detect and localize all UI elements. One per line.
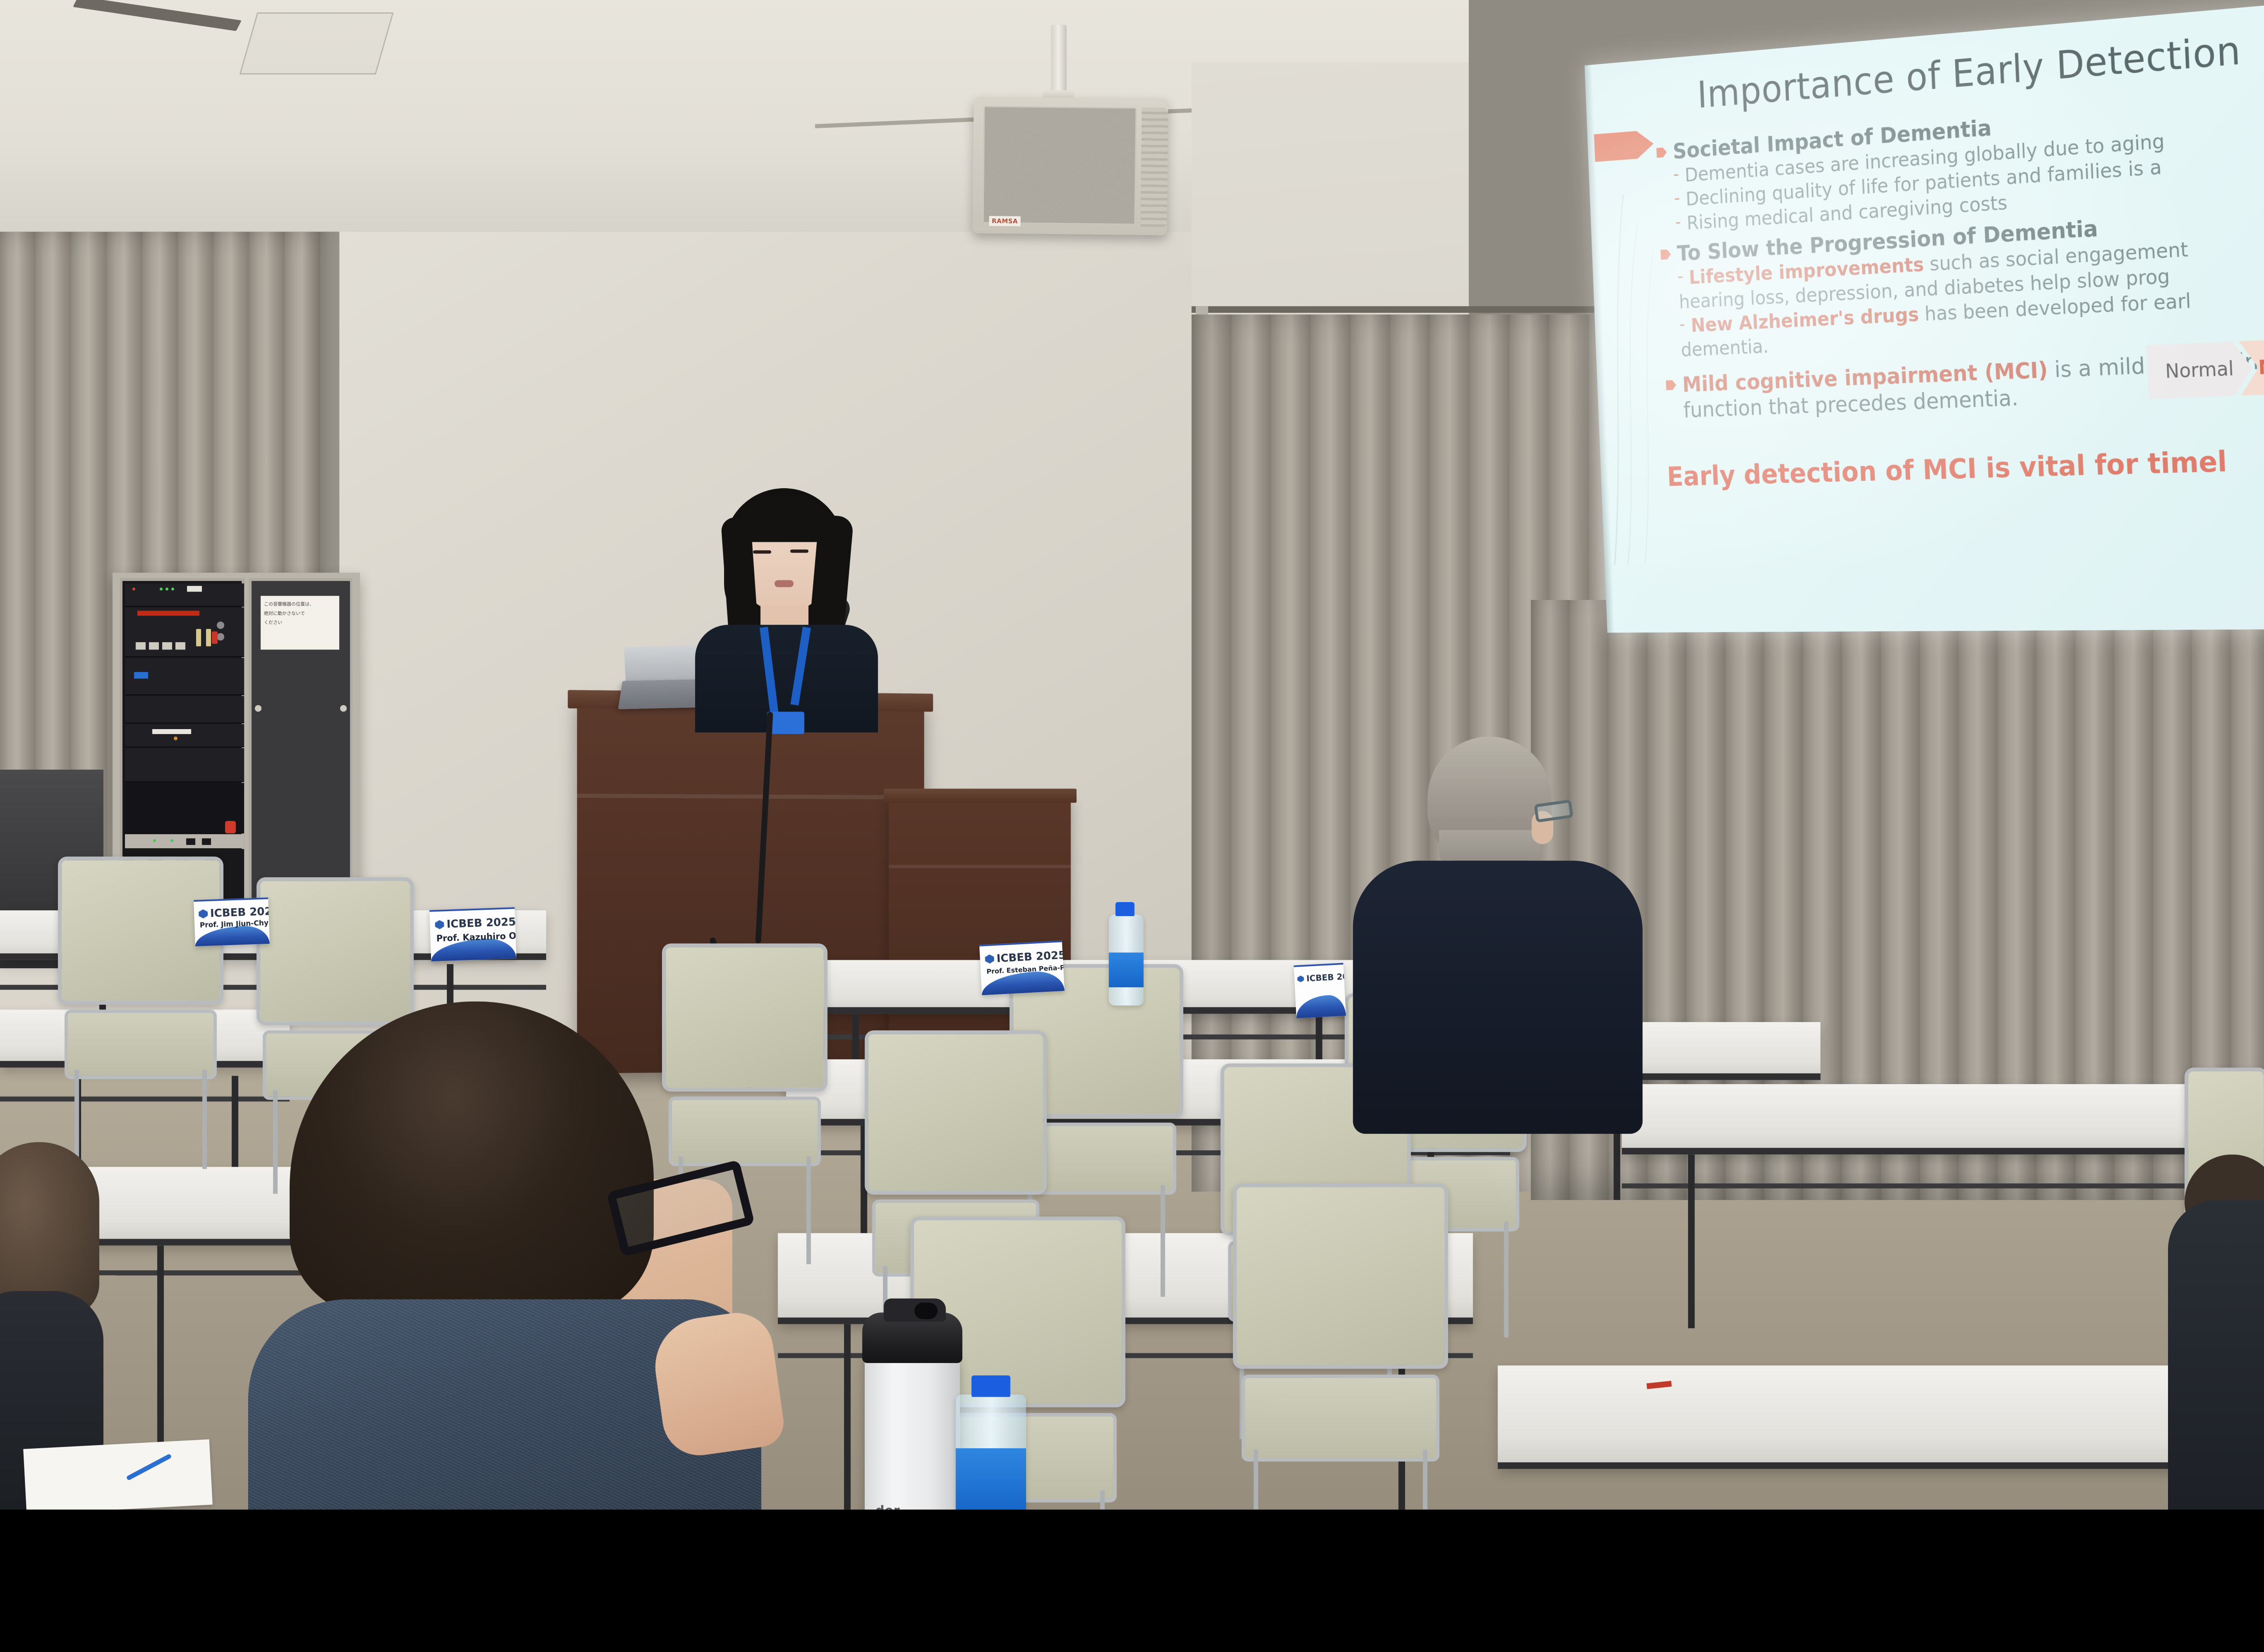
progression-chevron-figure: Normal MC	[2158, 338, 2264, 399]
table-row4-right	[1498, 1365, 2264, 1469]
chair-back	[865, 1030, 1047, 1195]
ceiling-light-slot	[73, 0, 241, 31]
table-row2-far-right	[1622, 1084, 2264, 1154]
placard-event-text: ICBEB 2025	[210, 905, 270, 920]
chair-leg	[202, 1070, 207, 1169]
patch-led-icon	[153, 839, 156, 842]
status-led-icon	[160, 588, 163, 591]
chair-leg	[1161, 1185, 1165, 1297]
projection-screen: Importance of Early Detection Societal I…	[1584, 5, 2264, 633]
chair-seat	[65, 1009, 217, 1079]
shaker-drink-hole	[914, 1302, 937, 1319]
rack-door-latch[interactable]	[255, 705, 262, 712]
speaker-grille	[983, 106, 1137, 225]
rack-label	[187, 586, 202, 592]
rack-unit-dvd-player[interactable]	[125, 748, 244, 782]
presenter-eye	[753, 550, 771, 553]
podium-side-trim	[889, 865, 1071, 868]
presenter-mouth	[775, 580, 794, 587]
paper-sheet[interactable]	[23, 1439, 212, 1509]
table-leg	[1688, 1154, 1695, 1328]
rack-warning-sign: この音響機器の位置は、 絶対に動かさないで ください	[261, 596, 340, 650]
chair-leg	[1423, 1450, 1427, 1510]
conference-room-scene: Importance of Early Detection Societal I…	[0, 0, 2264, 1509]
rack-door[interactable]: この音響機器の位置は、 絶対に動かさないで ください	[249, 578, 352, 909]
mixer-knob[interactable]	[217, 633, 224, 640]
rca-jack-red[interactable]	[225, 821, 236, 833]
transport-led-icon	[174, 736, 177, 740]
rack-unit-blank-panel	[125, 696, 244, 723]
slide-tagline: Early detection of MCI is vital for time…	[1666, 445, 2227, 493]
name-placard: ICBEB 2025 Prof. Kazuhiro Oda	[429, 907, 516, 961]
table-edge	[1498, 1462, 2264, 1469]
table-leg	[157, 1245, 164, 1452]
name-placard: ICBEB 2025 Prof. Jim Jiun-Chyuan Shen	[194, 898, 270, 946]
mixer-knob[interactable]	[217, 621, 224, 629]
audience-member-foreground	[248, 1001, 807, 1509]
placard-event-title: ICBEB 2025	[985, 949, 1061, 965]
patch-port[interactable]	[186, 838, 195, 845]
placard-event-text: ICBEB 2025	[996, 949, 1065, 965]
rack-sign-line: この音響機器の位置は、	[264, 600, 336, 609]
placard-event-title: ICBEB 2025	[435, 916, 513, 931]
ceiling-vent-panel	[240, 12, 394, 74]
audience-member-navy-suit	[1328, 736, 1651, 1133]
rack-unit-cd-player[interactable]	[125, 724, 244, 747]
ceiling-speaker: RAMSA	[973, 96, 1169, 235]
bottle-label	[1109, 952, 1144, 987]
speaker-vent-fins	[1141, 107, 1168, 227]
level-meter-bar	[137, 611, 199, 616]
mixer-fader[interactable]	[206, 629, 211, 646]
table-leg	[844, 1324, 851, 1509]
patch-led-icon	[170, 839, 173, 842]
rack-patch-panel[interactable]	[125, 834, 244, 848]
chevron-normal: Normal	[2146, 341, 2253, 399]
torso	[2168, 1200, 2264, 1509]
name-placard: ICBEB 2025 Prof. Esteban Peña-Pitarch	[979, 941, 1065, 995]
rack-unit-cassette-deck[interactable]	[125, 658, 244, 695]
placard-person-name: Prof. Jim Jiun-Chyuan Shen	[200, 919, 269, 930]
chair-back	[1233, 1183, 1448, 1369]
icbeb-logo-icon	[985, 954, 994, 964]
rack-unit-mixer[interactable]	[125, 607, 244, 657]
podium-side-top-surface	[884, 789, 1077, 803]
placard-event-title: ICBEB 2025	[198, 905, 267, 920]
rack-switch[interactable]	[162, 642, 172, 649]
hair	[290, 1001, 654, 1316]
table-edge	[1622, 1148, 2264, 1155]
rack-unit-amplifier[interactable]	[125, 583, 244, 606]
chair-leg	[1254, 1450, 1258, 1510]
speaker-brand-badge: RAMSA	[989, 216, 1021, 226]
rack-switch[interactable]	[136, 642, 146, 649]
presenter-eye	[790, 549, 808, 552]
icbeb-logo-icon	[198, 909, 208, 919]
icbeb-logo-icon	[435, 920, 444, 929]
podium-trim	[577, 794, 924, 800]
water-bottle[interactable]	[1109, 914, 1144, 1005]
cd-display	[152, 729, 191, 734]
torso-suit-jacket	[1353, 861, 1643, 1134]
presenter	[679, 488, 894, 707]
patch-port[interactable]	[202, 838, 211, 845]
chair-seat	[1242, 1374, 1439, 1461]
mixer-fader[interactable]	[196, 629, 201, 646]
rack-sign-line: ください	[264, 618, 336, 627]
mixer-mute-button[interactable]	[212, 631, 218, 644]
deck-display	[134, 672, 148, 679]
chair[interactable]	[1233, 1183, 1448, 1473]
status-led-icon	[171, 588, 174, 591]
rack-switch[interactable]	[149, 642, 159, 649]
power-led-icon	[132, 588, 135, 591]
rack-sign-line: 絶対に動かさないで	[264, 609, 336, 618]
chair-leg	[1504, 1221, 1508, 1337]
icbeb-logo-icon	[1297, 975, 1304, 982]
shaker-bottle[interactable]: der	[865, 1353, 960, 1509]
bottle-cap	[971, 1375, 1010, 1397]
shaker-brand-text: der	[875, 1503, 900, 1510]
chair-leg	[1100, 1491, 1105, 1510]
placard-event-text: ICBEB 2025	[446, 916, 516, 931]
status-led-icon	[165, 588, 168, 591]
bottle-label	[956, 1448, 1026, 1509]
audience-member-right-edge	[2168, 1154, 2264, 1509]
table-rail	[0, 1096, 290, 1101]
rack-door-latch[interactable]	[340, 705, 347, 712]
chair[interactable]	[58, 856, 223, 1088]
chair-leg	[806, 1157, 811, 1264]
water-bottle[interactable]	[956, 1394, 1026, 1509]
bottle-cap	[1115, 902, 1134, 916]
hair	[0, 1142, 99, 1316]
rack-switch[interactable]	[175, 642, 185, 649]
